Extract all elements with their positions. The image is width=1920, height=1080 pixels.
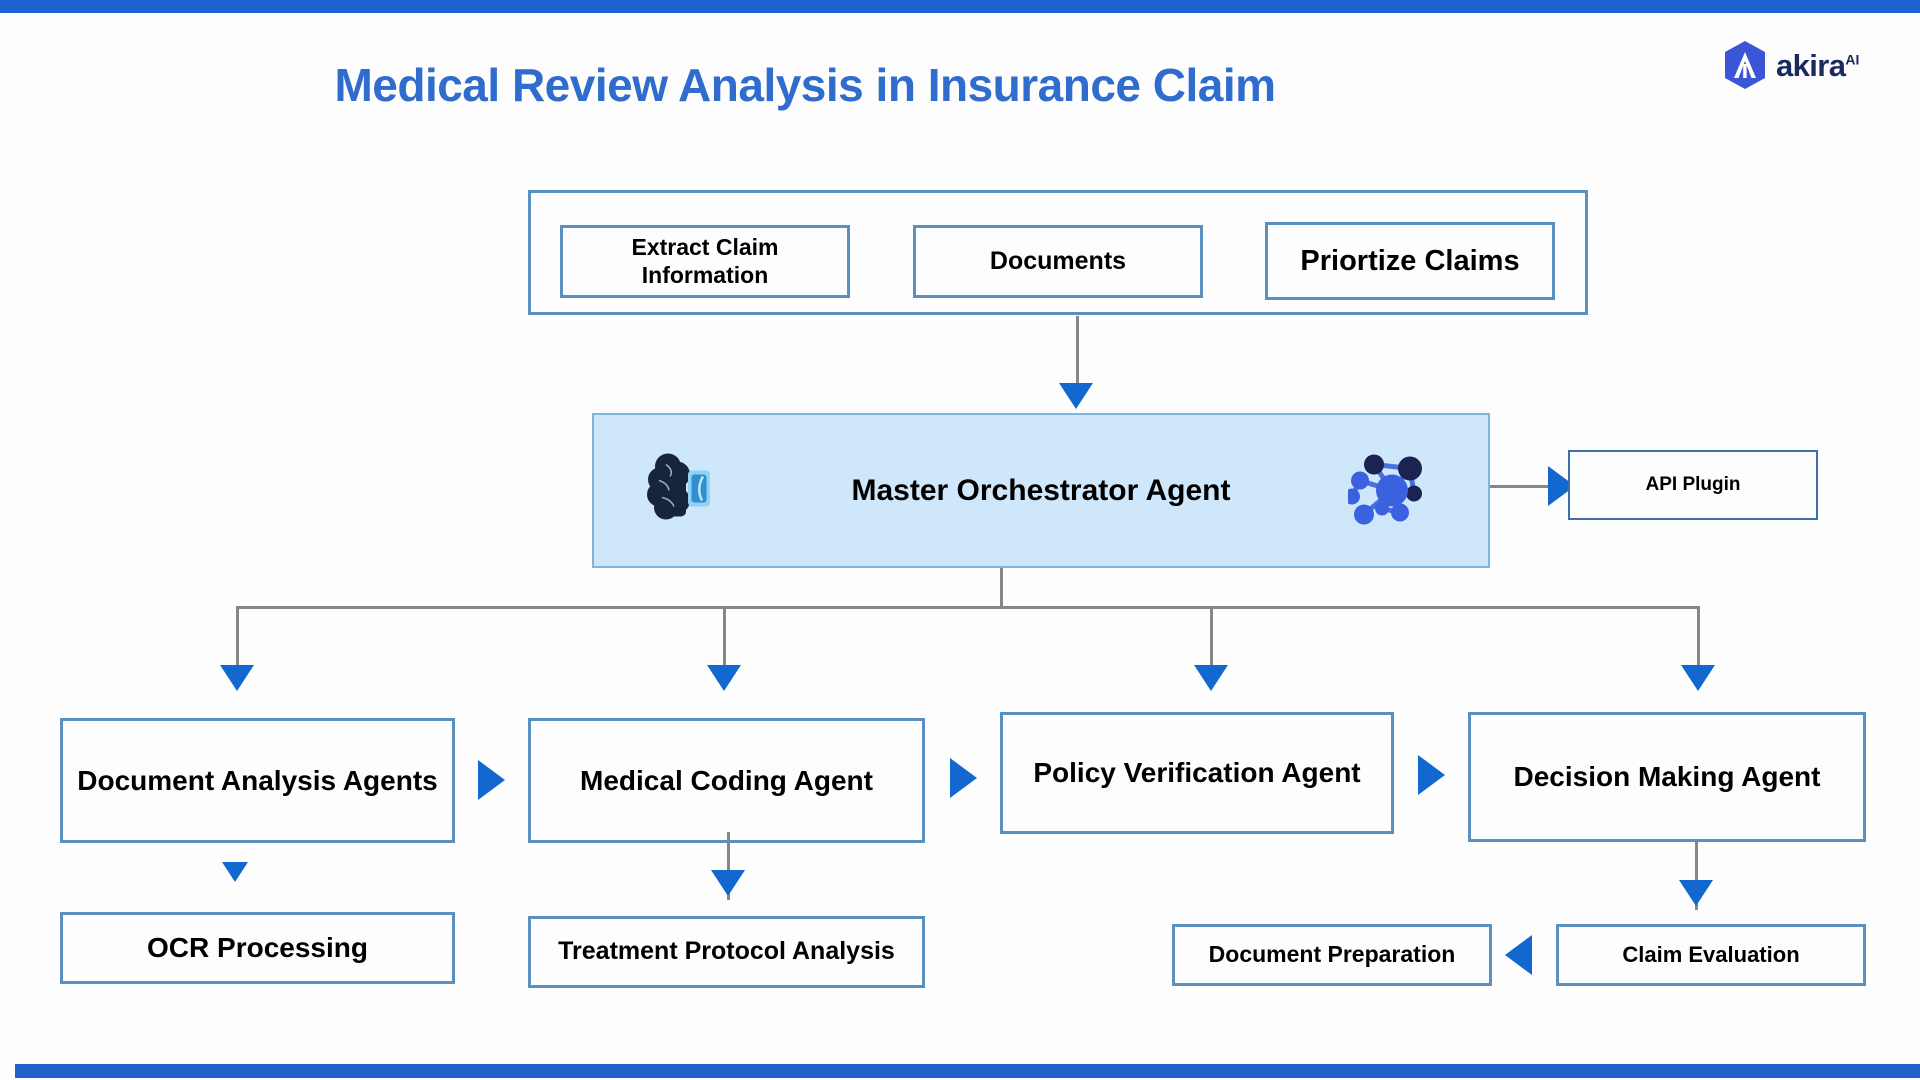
connector-arrow-decision-to-claim-eval [1679,880,1713,906]
input-box-priortize-claims[interactable]: Priortize Claims [1265,222,1555,300]
logo-name: akira [1776,48,1845,83]
diagram-canvas: Medical Review Analysis in Insurance Cla… [0,0,1920,1080]
connector-orchestrator-to-api-line [1490,485,1552,488]
page-title: Medical Review Analysis in Insurance Cla… [0,58,1610,112]
agent-box-document-analysis-agents[interactable]: Document Analysis Agents [60,718,455,843]
connector-inputs-to-orchestrator-arrow [1059,383,1093,409]
connector-arrow-doc-to-coding [478,760,505,800]
subtask-box-treatment-protocol-analysis[interactable]: Treatment Protocol Analysis [528,916,925,988]
agent-box-policy-verification-agent[interactable]: Policy Verification Agent [1000,712,1394,834]
subtask-box-claim-evaluation[interactable]: Claim Evaluation [1556,924,1866,986]
master-orchestrator-agent-box[interactable]: Master Orchestrator Agent [592,413,1490,568]
akira-ai-logo: akiraAI [1722,40,1859,90]
connector-orchestrator-stem [1000,568,1003,608]
connector-arrow-claim-eval-to-doc-prep [1505,935,1532,975]
input-box-documents[interactable]: Documents [913,225,1203,298]
connector-agents-bus [236,606,1698,609]
agent-box-decision-making-agent[interactable]: Decision Making Agent [1468,712,1866,842]
logo-wordmark: akiraAI [1776,50,1859,81]
input-box-extract-claim-information[interactable]: Extract Claim Information [560,225,850,298]
akira-hexagon-icon [1722,40,1768,90]
subtask-box-document-preparation[interactable]: Document Preparation [1172,924,1492,986]
connector-arrow-policy-to-decision [1418,755,1445,795]
connector-arrow-policy-verification [1194,665,1228,691]
api-plugin-box[interactable]: API Plugin [1568,450,1818,520]
master-orchestrator-agent-label: Master Orchestrator Agent [852,474,1231,508]
agent-box-medical-coding-agent[interactable]: Medical Coding Agent [528,718,925,843]
connector-arrow-coding-to-treatment [711,870,745,896]
connector-arrow-document-analysis-to-ocr [222,862,248,882]
subtask-box-ocr-processing[interactable]: OCR Processing [60,912,455,984]
connector-arrow-decision-making [1681,665,1715,691]
top-accent-bar [0,0,1920,13]
connector-arrow-document-analysis [220,665,254,691]
brain-chip-icon [646,450,714,531]
logo-superscript: AI [1845,51,1859,67]
bottom-accent-bar [15,1064,1920,1078]
connector-arrow-coding-to-policy [950,758,977,798]
network-graph-icon [1348,448,1432,533]
connector-arrow-medical-coding [707,665,741,691]
